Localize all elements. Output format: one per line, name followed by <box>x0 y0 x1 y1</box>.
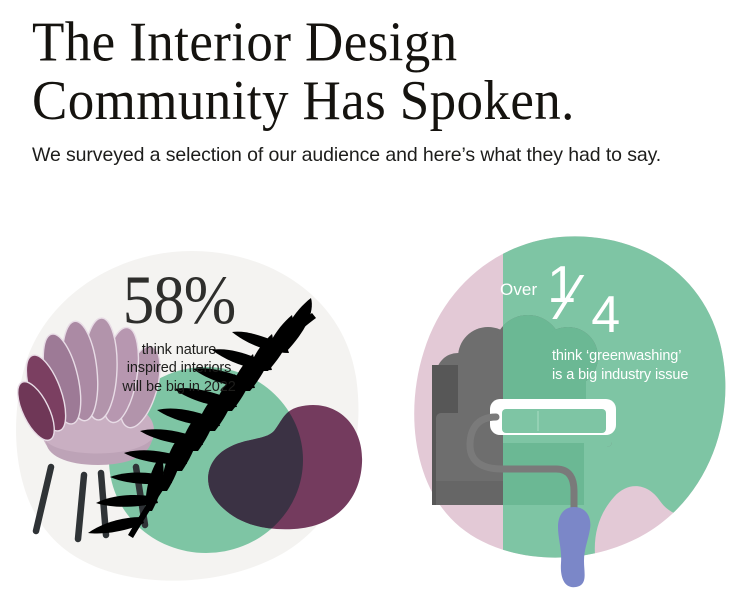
stat-greenwashing: Over 1 ⁄ 4 think ‘greenwashing’ is a big… <box>500 263 730 385</box>
stat-panel-nature-interiors: 58% think nature inspired interiors will… <box>6 235 376 600</box>
roller-sleeve-inner <box>502 409 606 433</box>
fraction-denominator: 4 <box>591 289 620 341</box>
stat-fraction-one-quarter: 1 ⁄ 4 <box>545 263 637 341</box>
fraction-slash-icon: ⁄ <box>565 265 576 329</box>
page-subtitle: We surveyed a selection of our audience … <box>32 143 702 169</box>
stat-nature-interiors: 58% think nature inspired interiors will… <box>84 267 274 396</box>
stat-number-58: 58% <box>84 267 274 335</box>
page-title: The Interior Design Community Has Spoken… <box>32 14 722 131</box>
stat-caption-greenwashing: think ‘greenwashing’ is a big industry i… <box>552 347 730 385</box>
stat-panel-greenwashing: Over 1 ⁄ 4 think ‘greenwashing’ is a big… <box>410 235 750 600</box>
header-block: The Interior Design Community Has Spoken… <box>32 14 722 124</box>
stat-fraction-row: Over 1 ⁄ 4 <box>500 263 730 341</box>
stat-caption-nature: think nature inspired interiors will be … <box>84 341 274 397</box>
roller-handle-grip <box>558 507 590 587</box>
stat-prefix-over: Over <box>500 263 537 300</box>
